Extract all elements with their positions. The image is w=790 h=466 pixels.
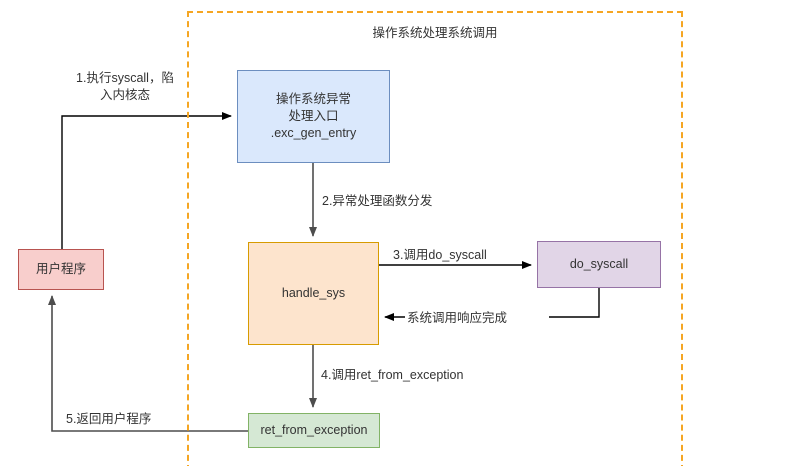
node-exception-entry-line2: 处理入口	[288, 108, 338, 125]
node-exception-entry-line1: 操作系统异常	[276, 91, 351, 108]
edge-label-5: 4.调用ret_from_exception	[321, 367, 521, 384]
node-user-program[interactable]: 用户程序	[18, 249, 104, 290]
node-handle-sys-label: handle_sys	[282, 285, 345, 302]
node-ret-from-exception[interactable]: ret_from_exception	[248, 413, 380, 448]
container-title: 操作系统处理系统调用	[187, 22, 683, 41]
node-do-syscall[interactable]: do_syscall	[537, 241, 661, 288]
node-user-program-label: 用户程序	[36, 261, 86, 278]
node-do-syscall-label: do_syscall	[570, 256, 628, 273]
diagram-canvas: 操作系统处理系统调用 用户程序 操作系统异常 处理入口 .exc_gen_e	[0, 0, 790, 466]
edge-label-6: 5.返回用户程序	[66, 411, 196, 428]
edge-label-2: 2.异常处理函数分发	[322, 193, 482, 210]
edge-label-4: 系统调用响应完成	[405, 310, 549, 327]
edge-label-3: 3.调用do_syscall	[393, 247, 533, 264]
node-exception-entry[interactable]: 操作系统异常 处理入口 .exc_gen_entry	[237, 70, 390, 163]
edge-label-1: 1.执行syscall，陷 入内核态	[45, 70, 205, 104]
node-ret-from-exception-label: ret_from_exception	[260, 422, 367, 439]
node-handle-sys[interactable]: handle_sys	[248, 242, 379, 345]
node-exception-entry-line3: .exc_gen_entry	[271, 125, 356, 142]
